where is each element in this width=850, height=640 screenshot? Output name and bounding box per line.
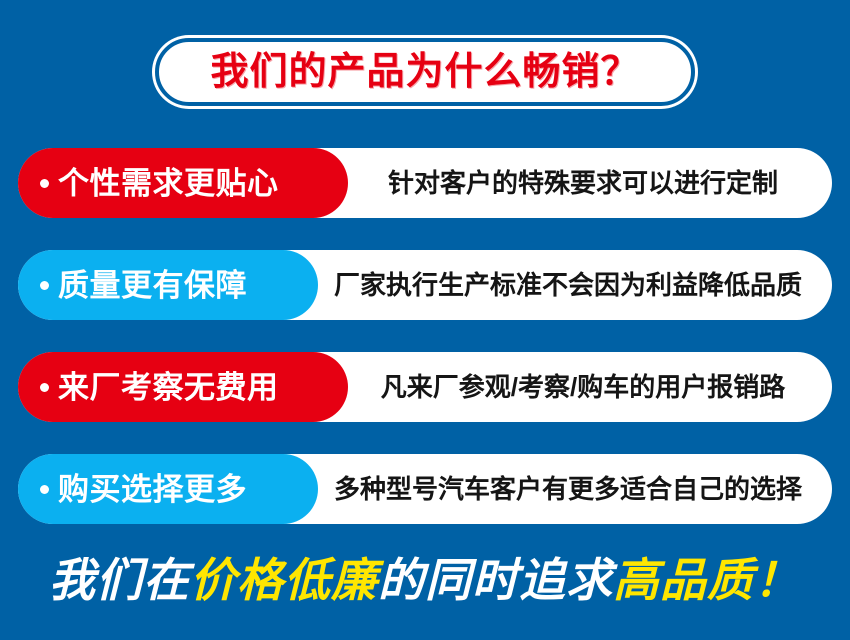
bullet-icon [40,281,49,290]
feature-desc-3: 凡来厂参观/考察/购车的用户报销路 [348,374,832,400]
bullet-icon [40,179,49,188]
bullet-icon [40,485,49,494]
feature-desc-1: 针对客户的特殊要求可以进行定制 [348,170,832,196]
title-pill: 我们的产品为什么畅销？ [155,38,695,106]
feature-badge-label-2: 质量更有保障 [58,270,247,301]
feature-badge-3: 来厂考察无费用 [18,352,348,422]
bullet-icon [40,383,49,392]
slogan-part-3: 的同时追求 [378,557,613,603]
feature-badge-1: 个性需求更贴心 [18,148,348,218]
feature-row: 购买选择更多 多种型号汽车客户有更多适合自己的选择 [18,454,832,524]
feature-row: 个性需求更贴心 针对客户的特殊要求可以进行定制 [18,148,832,218]
feature-desc-2: 厂家执行生产标准不会因为利益降低品质 [318,272,832,298]
slogan-part-2: 价格低廉 [190,557,378,603]
title-container: 我们的产品为什么畅销？ [155,38,695,106]
promo-poster: 我们的产品为什么畅销？ 个性需求更贴心 针对客户的特殊要求可以进行定制 质量更有… [0,0,850,640]
footer-slogan: 我们在 价格低廉 的同时追求 高品质！ [0,540,850,620]
slogan-part-1: 我们在 [49,557,190,603]
feature-row: 来厂考察无费用 凡来厂参观/考察/购车的用户报销路 [18,352,832,422]
feature-badge-4: 购买选择更多 [18,454,318,524]
feature-badge-2: 质量更有保障 [18,250,318,320]
feature-badge-label-4: 购买选择更多 [58,474,247,505]
feature-desc-4: 多种型号汽车客户有更多适合自己的选择 [318,476,832,502]
feature-row: 质量更有保障 厂家执行生产标准不会因为利益降低品质 [18,250,832,320]
feature-badge-label-3: 来厂考察无费用 [58,372,279,403]
feature-badge-label-1: 个性需求更贴心 [58,168,279,199]
slogan-part-4: 高品质！ [613,557,801,603]
page-title: 我们的产品为什么畅销？ [210,53,639,91]
